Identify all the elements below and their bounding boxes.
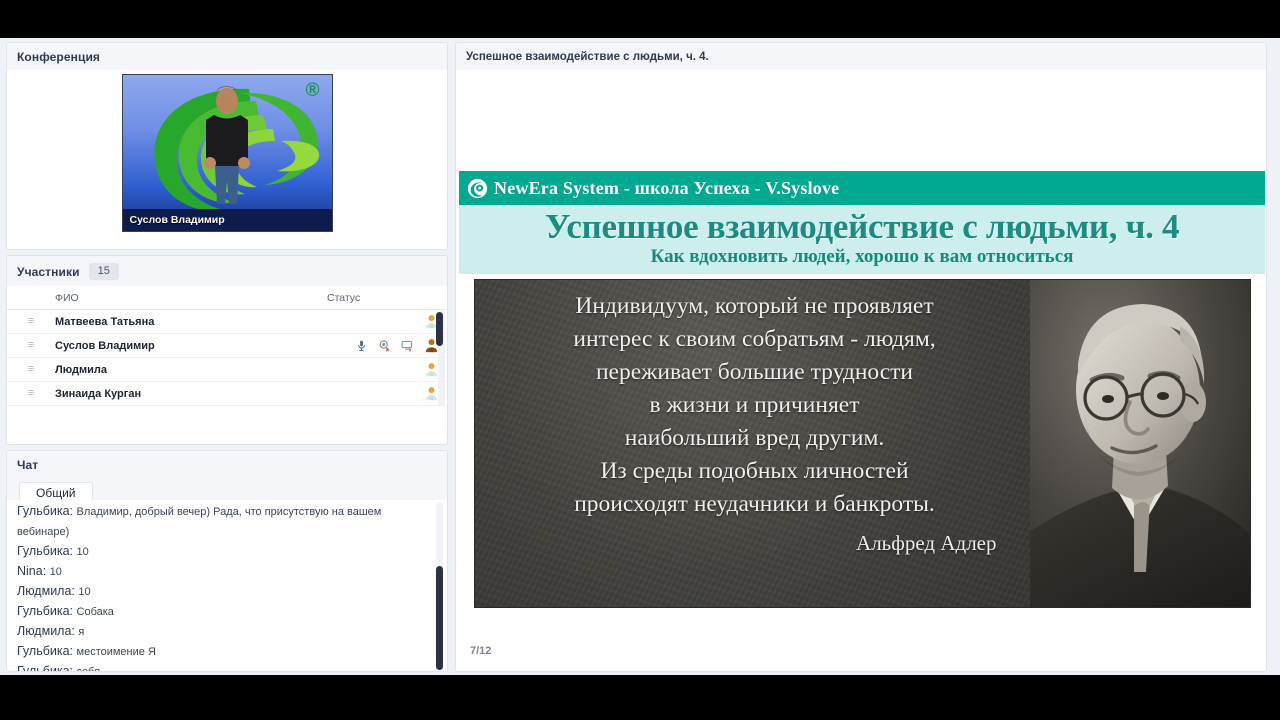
right-column: Успешное взаимодействие с людьми, ч. 4. … bbox=[455, 42, 1267, 672]
chat-text: 10 bbox=[50, 566, 62, 578]
list-item: Гульбика: себя bbox=[7, 662, 447, 672]
quote-line: Из среды подобных личностей bbox=[485, 455, 1025, 488]
quote-line: Индивидуум, который не проявляет bbox=[485, 290, 1025, 323]
video-speaker-label: Суслов Владимир bbox=[123, 209, 332, 231]
chat-author: Гульбика: bbox=[17, 664, 73, 672]
slide-brand-label: NewEra System - школа Успеха - V.Syslove bbox=[494, 178, 839, 199]
chat-tab-bar: Общий bbox=[7, 478, 447, 500]
participants-scrollbar-thumb[interactable] bbox=[436, 312, 443, 346]
chat-text: Собака bbox=[77, 606, 114, 618]
participants-column-headers: ФИО Статус bbox=[7, 286, 447, 310]
quote-line: наибольший вред другим. bbox=[485, 422, 1025, 455]
slide-brand-bar: NewEra System - школа Успеха - V.Syslove bbox=[459, 171, 1265, 205]
drag-handle-icon[interactable]: ≡ bbox=[7, 365, 55, 374]
list-item: Гульбика: Собака bbox=[7, 602, 447, 622]
list-item: Гульбика: 10 bbox=[7, 542, 447, 562]
participants-rows: ≡ Матвеева Татьяна ≡ Суслов Влади bbox=[7, 310, 447, 406]
slide-heading-block: Успешное взаимодействие с людьми, ч. 4 К… bbox=[459, 205, 1265, 274]
participants-scrollbar-track[interactable] bbox=[438, 310, 445, 406]
participants-count-badge: 15 bbox=[89, 263, 119, 280]
svg-text:x: x bbox=[409, 348, 413, 352]
conference-title: Конференция bbox=[7, 43, 447, 70]
participant-name: Суслов Владимир bbox=[55, 340, 309, 352]
quote-line: переживает большие трудности bbox=[485, 356, 1025, 389]
microphone-icon[interactable] bbox=[355, 339, 368, 352]
participants-header: Участники 15 bbox=[7, 256, 447, 286]
column-header-name: ФИО bbox=[55, 292, 327, 304]
newera-logo-icon bbox=[467, 178, 488, 199]
table-row[interactable]: ≡ Матвеева Татьяна bbox=[7, 310, 447, 334]
chat-text: 10 bbox=[78, 586, 90, 598]
slide-subheading: Как вдохновить людей, хорошо к вам относ… bbox=[459, 245, 1265, 268]
video-tile-speaker[interactable]: ® Суслов Владимир bbox=[122, 74, 333, 232]
chat-text: 10 bbox=[77, 546, 89, 558]
quote-text-block: Индивидуум, который не проявляет интерес… bbox=[485, 290, 1025, 560]
list-item: Людмила: я bbox=[7, 622, 447, 642]
participant-status-cell bbox=[309, 386, 447, 401]
participant-name: Людмила bbox=[55, 364, 309, 376]
list-item: Гульбика: Владимир, добрый вечер) Рада, … bbox=[7, 502, 447, 542]
participant-status-cell bbox=[309, 314, 447, 329]
conference-title-label: Конференция bbox=[17, 50, 100, 64]
registered-trademark-icon: ® bbox=[306, 81, 320, 100]
chat-author: Людмила: bbox=[17, 624, 75, 638]
app-root: Конференция bbox=[0, 0, 1280, 720]
conference-video-area: ® Суслов Владимир bbox=[7, 70, 447, 248]
chat-author: Гульбика: bbox=[17, 504, 73, 518]
table-row[interactable]: ≡ Зинаида Курган bbox=[7, 382, 447, 406]
presentation-title: Успешное взаимодействие с людьми, ч. 4. bbox=[456, 43, 1266, 70]
column-header-status: Статус bbox=[327, 292, 447, 304]
participant-name: Матвеева Татьяна bbox=[55, 316, 309, 328]
chat-scrollbar-thumb[interactable] bbox=[436, 566, 443, 670]
quote-card: Индивидуум, который не проявляет интерес… bbox=[475, 280, 1250, 607]
participants-title-label: Участники bbox=[17, 265, 80, 279]
chat-author: Людмила: bbox=[17, 584, 75, 598]
camera-off-icon[interactable]: x bbox=[378, 339, 391, 352]
portrait-illustration-icon bbox=[1030, 280, 1250, 607]
chat-author: Nina: bbox=[17, 564, 46, 578]
participant-name: Зинаида Курган bbox=[55, 388, 309, 400]
left-column: Конференция bbox=[6, 42, 448, 672]
table-row[interactable]: ≡ Людмила bbox=[7, 358, 447, 382]
chat-author: Гульбика: bbox=[17, 604, 73, 618]
chat-author: Гульбика: bbox=[17, 544, 73, 558]
column-drag-spacer bbox=[7, 292, 55, 304]
chat-title-label: Чат bbox=[17, 458, 38, 472]
slide-page-indicator: 7/12 bbox=[470, 645, 491, 657]
presentation-panel: Успешное взаимодействие с людьми, ч. 4. … bbox=[455, 42, 1267, 672]
quote-line: интерес к своим собратьям - людям, bbox=[485, 323, 1025, 356]
quote-line: происходят неудачники и банкроты. bbox=[485, 488, 1025, 521]
participant-status-cell bbox=[309, 362, 447, 377]
chat-author: Гульбика: bbox=[17, 644, 73, 658]
participants-panel: Участники 15 ФИО Статус ≡ Матвеева Татья… bbox=[6, 255, 448, 445]
list-item: Nina: 10 bbox=[7, 562, 447, 582]
slide-content: NewEra System - школа Успеха - V.Syslove… bbox=[459, 171, 1265, 620]
drag-handle-icon[interactable]: ≡ bbox=[7, 389, 55, 398]
quote-line: в жизни и причиняет bbox=[485, 389, 1025, 422]
drag-handle-icon[interactable]: ≡ bbox=[7, 317, 55, 326]
chat-header: Чат bbox=[7, 451, 447, 478]
participant-status-cell: x x bbox=[309, 338, 447, 353]
drag-handle-icon[interactable]: ≡ bbox=[7, 341, 55, 350]
chat-panel: Чат Общий Гульбика: Владимир, добрый веч… bbox=[6, 450, 448, 672]
screenshare-off-icon[interactable]: x bbox=[401, 339, 414, 352]
user-avatar-icon bbox=[424, 362, 439, 377]
webinar-app-area: Конференция bbox=[0, 38, 1280, 675]
chat-text: себя bbox=[77, 666, 101, 672]
chat-text: я bbox=[78, 626, 84, 638]
chat-message-list[interactable]: Гульбика: Владимир, добрый вечер) Рада, … bbox=[7, 500, 447, 672]
list-item: Людмила: 10 bbox=[7, 582, 447, 602]
speaker-figure-icon bbox=[198, 85, 256, 223]
chat-text: местоимение Я bbox=[77, 646, 156, 658]
slide-heading: Успешное взаимодействие с людьми, ч. 4 bbox=[459, 207, 1265, 247]
conference-panel: Конференция bbox=[6, 42, 448, 250]
slide-stage[interactable]: NewEra System - школа Успеха - V.Syslove… bbox=[456, 71, 1266, 671]
user-avatar-icon bbox=[424, 386, 439, 401]
list-item: Гульбика: местоимение Я bbox=[7, 642, 447, 662]
table-row[interactable]: ≡ Суслов Владимир bbox=[7, 334, 447, 358]
quote-author: Альфред Адлер bbox=[485, 527, 1025, 560]
alfred-adler-portrait bbox=[1030, 280, 1250, 607]
